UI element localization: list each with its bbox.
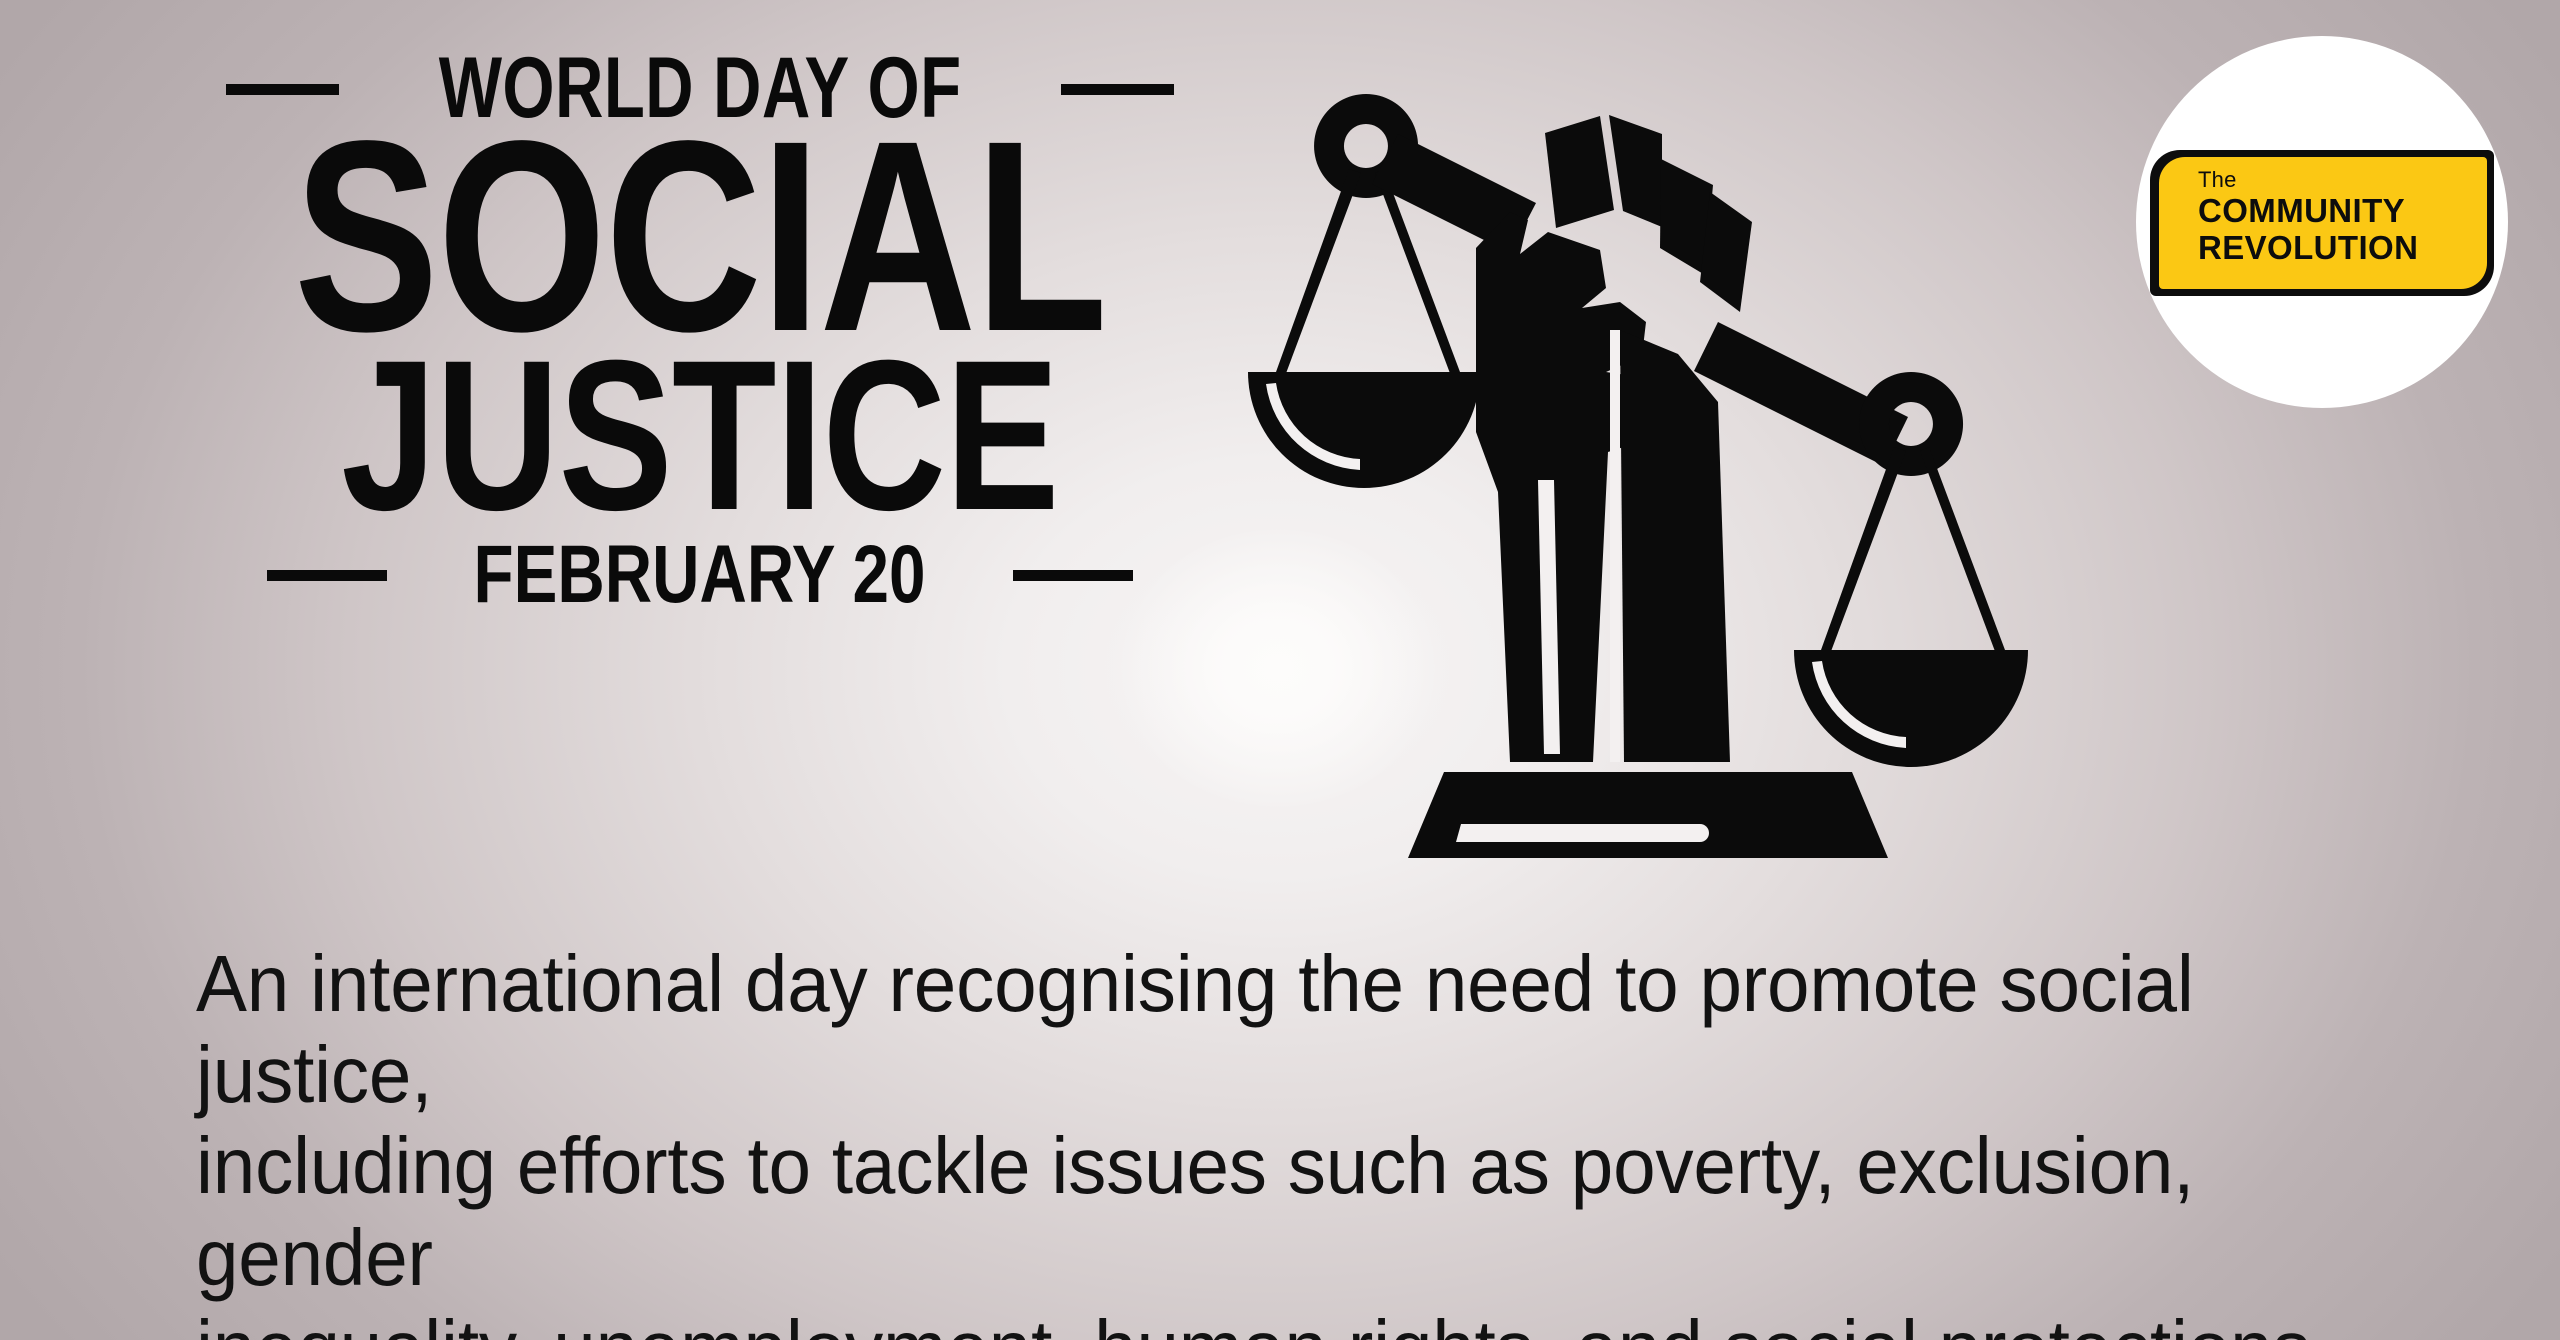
date-row: FEBRUARY 20 [150,529,1250,621]
title-line-justice: JUSTICE [260,348,1140,523]
logo-plate: The COMMUNITY REVOLUTION [2150,150,2494,296]
description-line-1: An international day recognising the nee… [196,938,2364,1120]
brand-logo[interactable]: The COMMUNITY REVOLUTION [2136,36,2508,408]
logo-word-community: COMMUNITY [2198,194,2487,228]
description-line-3: inequality, unemployment, human rights, … [196,1303,2364,1340]
logo-word-revolution: REVOLUTION [2198,231,2487,265]
headline-block: WORLD DAY OF SOCIAL JUSTICE FEBRUARY 20 [150,46,1250,621]
description-text: An international day recognising the nee… [196,938,2364,1340]
description-line-2: including efforts to tackle issues such … [196,1120,2364,1302]
date-rule-right [1013,570,1133,581]
raised-fist-balance-scales-icon [1248,72,2068,872]
poster-canvas: WORLD DAY OF SOCIAL JUSTICE FEBRUARY 20 [0,0,2560,1340]
date-text: FEBRUARY 20 [474,538,926,612]
date-rule-left [267,570,387,581]
title-line-social: SOCIAL [260,128,1140,346]
logo-plate-inner: The COMMUNITY REVOLUTION [2159,157,2487,289]
logo-the-text: The [2198,169,2487,191]
